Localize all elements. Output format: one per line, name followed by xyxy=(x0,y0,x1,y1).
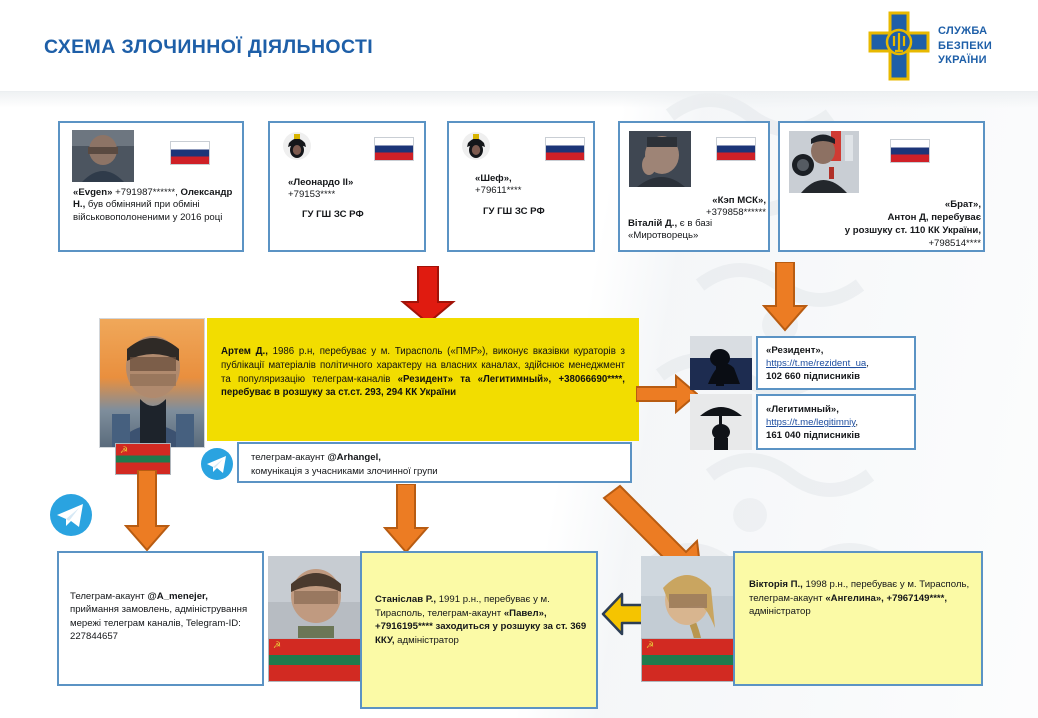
phone: +79611**** xyxy=(475,185,522,196)
channel-url-link[interactable]: https://t.me/rezident_ua xyxy=(766,358,866,369)
orange-down-arrow-to-menejer xyxy=(124,470,170,552)
flag-transnistria-icon-viktoria: ☭ xyxy=(641,638,737,682)
details: приймання замовлень, адміністрування мер… xyxy=(70,604,247,642)
avatar xyxy=(629,131,691,187)
menejer-text: Телеграм-акаунт @A_menejer, приймання за… xyxy=(70,590,258,644)
organization: ГУ ГШ ЗС РФ xyxy=(483,206,545,218)
alias: «Evgen» xyxy=(73,187,112,198)
sbu-logo-line-2: БЕЗПЕКИ xyxy=(938,39,992,54)
url-suffix: , xyxy=(866,358,869,369)
sbu-logo: СЛУЖБА БЕЗПЕКИ УКРАЇНИ xyxy=(866,10,1026,82)
sbu-cross-icon xyxy=(866,11,932,81)
subscriber-count: 102 660 підписників xyxy=(766,371,860,382)
arhangel-account-card[interactable]: телеграм-акаунт @Arhangel, комунікація з… xyxy=(237,442,632,483)
telegram-icon-arhangel xyxy=(200,447,234,481)
channel-info: «Легитимный», https://t.me/legitimniy, 1… xyxy=(766,403,916,443)
flag-russia-icon xyxy=(545,137,585,161)
card-body: «Evgen» +791987******, Олександр Н., був… xyxy=(73,187,233,224)
channel-name: «Резидент», xyxy=(766,345,823,356)
arhangel-text: телеграм-акаунт @Arhangel, комунікація з… xyxy=(251,451,626,478)
page-title: СХЕМА ЗЛОЧИННОЇ ДІЯЛЬНОСТІ xyxy=(44,36,373,59)
flag-russia-icon xyxy=(890,139,930,163)
telegram-handle: @A_menejer, xyxy=(147,591,208,602)
role: адміністратор xyxy=(395,635,459,646)
channel-name: «Легитимный», xyxy=(766,404,839,415)
orange-right-arrow-to-channels xyxy=(636,374,698,414)
alias-block: «Кэп МСК», +379858****** xyxy=(628,195,766,220)
header-shade xyxy=(0,92,1038,108)
center-card-text: Артем Д., 1986 р.н, перебуває у м. Тирас… xyxy=(221,345,625,400)
role-description: комунікація з учасниками злочинної групи xyxy=(251,466,438,477)
person-card-kep-msk[interactable]: «Кэп МСК», +379858****** Віталій Д., є в… xyxy=(618,121,770,252)
subscriber-count: 161 040 підписників xyxy=(766,430,860,441)
hammer-sickle-icon: ☭ xyxy=(273,641,281,650)
role: адміністратор xyxy=(749,606,811,617)
channel-thumb-rezident xyxy=(690,336,752,390)
flag-russia-icon xyxy=(170,141,210,165)
phone: +79153**** xyxy=(288,189,335,200)
phone: +791987******, xyxy=(115,187,178,198)
person-card-evgen[interactable]: «Evgen» +791987******, Олександр Н., був… xyxy=(58,121,244,252)
hammer-sickle-icon: ☭ xyxy=(646,641,654,650)
avatar xyxy=(789,131,859,193)
hammer-sickle-icon: ☭ xyxy=(120,446,128,455)
real-name: Антон Д, перебуває xyxy=(887,212,981,223)
orange-down-arrow-to-stanislav xyxy=(383,484,429,554)
card-alias-block: «Леонардо II» +79153**** xyxy=(288,177,418,202)
channel-info: «Резидент», https://t.me/rezident_ua, 10… xyxy=(766,344,916,384)
card-body: «Брат», Антон Д, перебуває у розшуку ст.… xyxy=(786,199,981,251)
avatar xyxy=(72,130,134,182)
stanislav-text: Станіслав Р., 1991 р.н., перебуває у м. … xyxy=(375,593,589,647)
avatar xyxy=(282,131,312,161)
detail: був обміняний при обміні військовополоне… xyxy=(73,199,222,222)
channel-card-legitimniy[interactable]: «Легитимный», https://t.me/legitimniy, 1… xyxy=(756,394,916,450)
real-name: Віталій Д., xyxy=(628,218,677,229)
phone: +798514**** xyxy=(928,238,981,249)
prefix: Телеграм-акаунт xyxy=(70,591,147,602)
sbu-logo-line-3: УКРАЇНИ xyxy=(938,53,992,68)
alias: «Леонардо II» xyxy=(288,177,353,188)
center-yellow-card-artem[interactable]: Артем Д., 1986 р.н, перебуває у м. Тирас… xyxy=(207,318,639,441)
center-photo-artem xyxy=(99,318,205,448)
avatar xyxy=(461,131,491,161)
alias: «Кэп МСК», xyxy=(712,195,766,206)
person-card-stanislav[interactable]: Станіслав Р., 1991 р.н., перебуває у м. … xyxy=(360,551,598,709)
channel-thumb-legitimniy xyxy=(690,394,752,450)
phone: +379858****** xyxy=(706,207,766,218)
channel-card-rezident[interactable]: «Резидент», https://t.me/rezident_ua, 10… xyxy=(756,336,916,390)
alias: «Брат», xyxy=(945,199,981,210)
person-card-shef[interactable]: «Шеф», +79611**** ГУ ГШ ЗС РФ xyxy=(447,121,595,252)
telegram-handle: «Ангелина», xyxy=(825,593,884,604)
person-card-brat[interactable]: «Брат», Антон Д, перебуває у розшуку ст.… xyxy=(778,121,985,252)
telegram-handle: @Arhangel, xyxy=(327,452,381,463)
alias: «Шеф», xyxy=(475,173,512,184)
menejer-account-card[interactable]: Телеграм-акаунт @A_menejer, приймання за… xyxy=(57,551,264,686)
channel-url-link[interactable]: https://t.me/legitimniy xyxy=(766,417,855,428)
person-name: Станіслав Р., xyxy=(375,594,436,605)
prefix: телеграм-акаунт xyxy=(251,452,327,463)
telegram-handle: «Павел», xyxy=(504,608,547,619)
flag-transnistria-icon-stanislav: ☭ xyxy=(268,638,364,682)
person-name: Артем Д., xyxy=(221,346,268,357)
wanted-status: у розшуку ст. 110 КК України, xyxy=(845,225,981,236)
card-alias-block: «Шеф», +79611**** xyxy=(475,173,595,198)
telegram-icon-left xyxy=(48,492,94,538)
flag-russia-icon xyxy=(716,137,756,161)
person-card-leonardo[interactable]: «Леонардо II» +79153**** ГУ ГШ ЗС РФ xyxy=(268,121,426,252)
url-suffix: , xyxy=(855,417,858,428)
sbu-logo-line-1: СЛУЖБА xyxy=(938,24,992,39)
flag-russia-icon xyxy=(374,137,414,161)
red-down-arrow xyxy=(398,266,458,324)
orange-down-arrow-to-rezident xyxy=(762,262,808,332)
card-body: Віталій Д., є в базі «Миротворець» xyxy=(628,218,768,243)
person-card-viktoria[interactable]: Вікторія П., 1998 р.н., перебуває у м. Т… xyxy=(733,551,983,686)
phone: +7967149****, xyxy=(884,593,947,604)
person-name: Вікторія П., xyxy=(749,579,803,590)
viktoria-text: Вікторія П., 1998 р.н., перебуває у м. Т… xyxy=(749,578,973,619)
organization: ГУ ГШ ЗС РФ xyxy=(302,209,364,221)
